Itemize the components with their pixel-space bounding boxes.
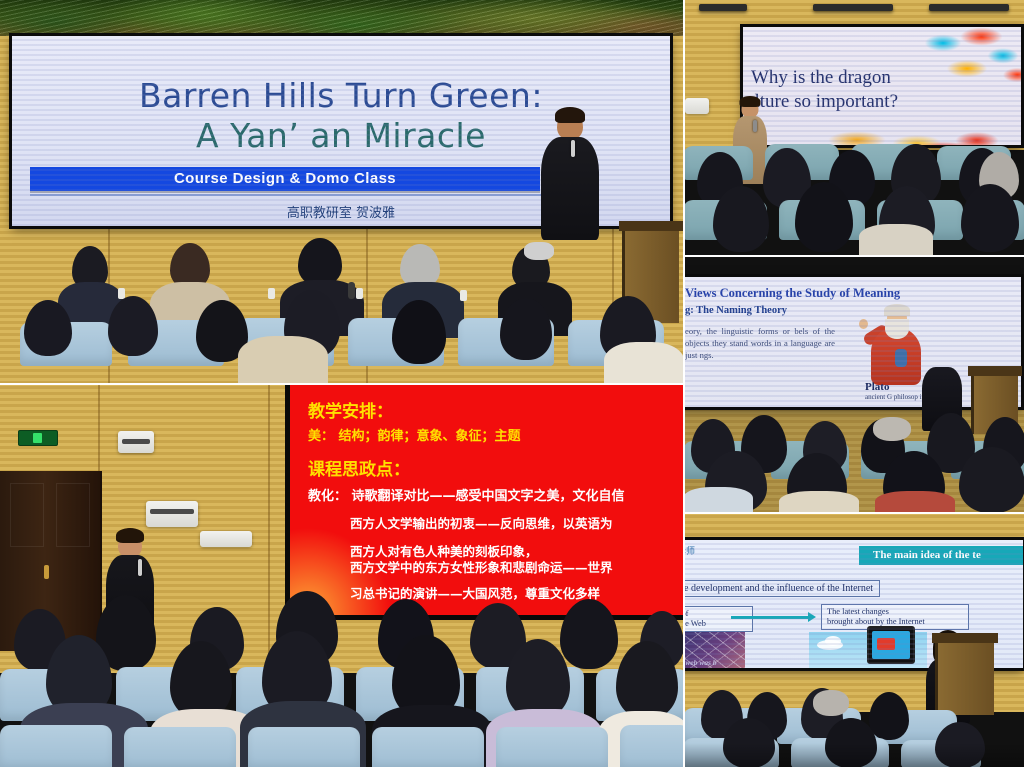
divider-vertical: [683, 0, 685, 767]
slide-row-internet-influence: e development and the influence of the I…: [683, 580, 880, 597]
divider-horizontal-left: [0, 383, 683, 385]
dragon-question-line1: Why is the dragon: [751, 67, 891, 89]
slide-box-left: on of Wide Web: [683, 606, 753, 632]
slide-banner-main-idea-label: The main idea of the te: [859, 546, 1023, 565]
slide-heading-meaning: Views Concerning the Study of Meaning: [685, 286, 900, 301]
projection-screen-dragon: Why is the dragon ulture so important?: [743, 27, 1021, 145]
panel-red-ideology-slide: 教学安排： 美： 结构；韵律；意象、象征；主题 课程思政点： 教化： 诗歌翻译对…: [0, 383, 683, 767]
panel-naming-theory-lecture: Views Concerning the Study of Meaning g:…: [683, 255, 1024, 512]
plato-caption: Plato: [865, 381, 889, 393]
red-slide-line-7: 习总书记的演讲——大国风范，尊重文化多样: [350, 583, 600, 602]
red-slide-line-1: 美： 结构；韵律；意象、象征；主题: [308, 425, 521, 444]
slide-subheading-naming-theory: g: The Naming Theory: [685, 305, 787, 316]
dragon-illustration-lower: [821, 119, 1021, 145]
slide-banner-label: Course Design & Domo Class: [30, 167, 540, 191]
ceiling-light-icon: [813, 4, 893, 11]
panel-dragon-culture-lecture: Why is the dragon ulture so important?: [683, 0, 1024, 255]
arrow-right-icon: [731, 616, 809, 619]
slide-image-device: [867, 626, 915, 664]
wall-unit-icon: [685, 98, 709, 114]
red-slide-line-4: 西方人文学输出的初衷——反向思维，以英语为: [350, 513, 613, 532]
ceiling-light-icon: [929, 4, 1009, 11]
lectern-internet: [935, 639, 994, 715]
panel-barren-hills-lecture: Barren Hills Turn Green: A Yan’ an Mirac…: [0, 0, 683, 383]
wall-device-top: [118, 431, 154, 453]
slide-image-web: e the web was b: [683, 632, 745, 668]
photo-collage: Barren Hills Turn Green: A Yan’ an Mirac…: [0, 0, 1024, 767]
slide-divider-rule: [30, 194, 546, 196]
wall-control-panel: [200, 531, 252, 547]
red-slide-line-6: 西方文学中的东方女性形象和悲剧命运——世界: [350, 557, 613, 576]
ceiling-light-icon: [699, 4, 747, 11]
projection-screen-red-slide: 教学安排： 美： 结构；韵律；意象、象征；主题 课程思政点： 教化： 诗歌翻译对…: [290, 383, 683, 615]
red-slide-line-2: 课程思政点：: [308, 455, 410, 480]
slide-header-landscape-image: [0, 0, 683, 36]
slide-body-text: eory, the linguistic forms or bels of th…: [685, 325, 835, 361]
slide-image-web-caption: e the web was b: [683, 658, 717, 667]
exit-sign-icon: [18, 430, 58, 446]
speaker-barren-hills: [530, 110, 610, 240]
divider-horizontal-right-bottom: [683, 512, 1024, 514]
panel-internet-main-idea-lecture: 华师 The main idea of the te e development…: [683, 512, 1024, 767]
dragon-illustration: [907, 27, 1021, 99]
red-slide-line-0: 教学安排：: [308, 397, 393, 422]
divider-horizontal-right-top: [683, 255, 1024, 257]
red-slide-line-3: 教化： 诗歌翻译对比——感受中国文字之美，文化自信: [308, 485, 625, 504]
slide-banner: Course Design & Domo Class: [30, 167, 540, 191]
slide-banner-main-idea: The main idea of the te: [859, 546, 1023, 565]
air-conditioner-icon: [146, 501, 198, 527]
